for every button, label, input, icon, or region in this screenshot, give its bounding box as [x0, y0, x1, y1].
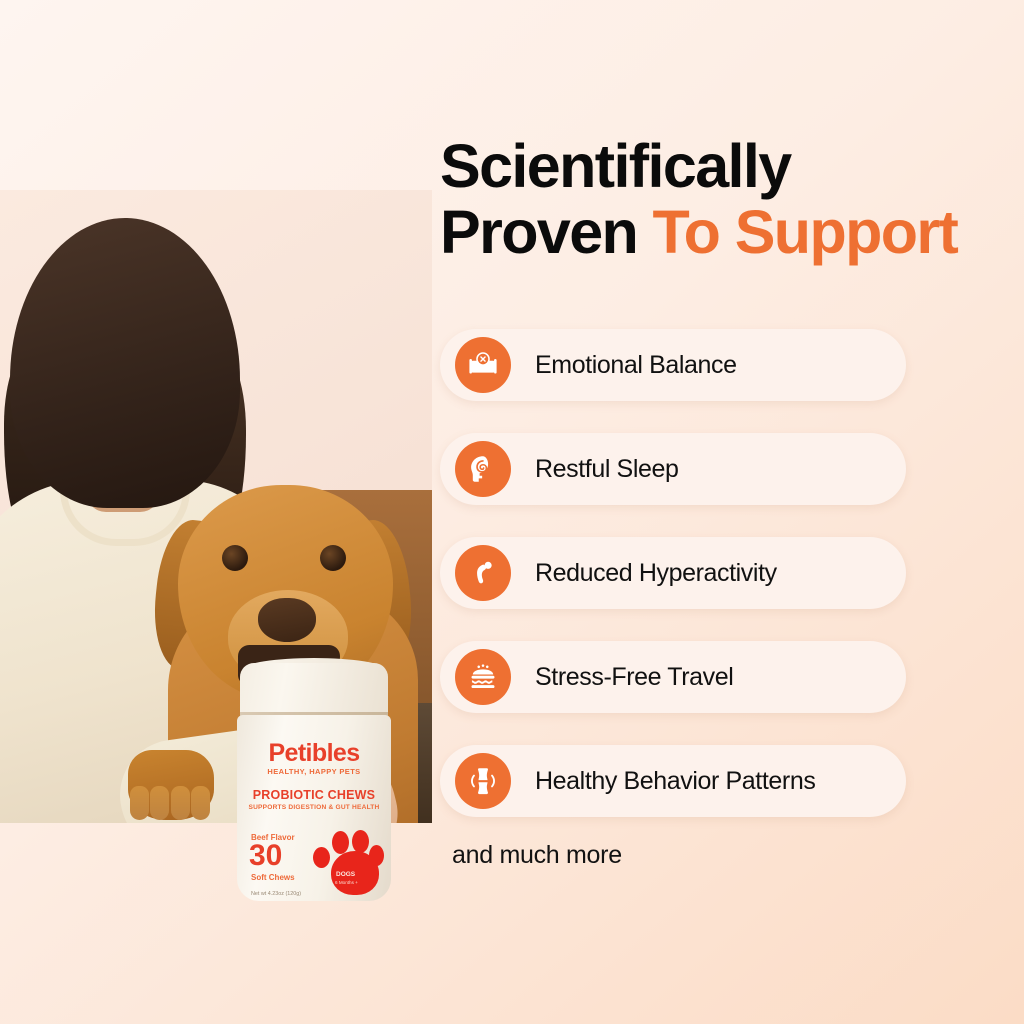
paw-age-label: 6 Months + [335, 880, 358, 885]
pillow-x-icon [455, 337, 511, 393]
headline-line2-accent: To Support [653, 198, 958, 266]
dog-eye-left [222, 545, 248, 571]
feature-list: Emotional Balance Restful Sleep Reduced … [440, 329, 906, 849]
product-bottle: Petibles HEALTHY, HAPPY PETS PROBIOTIC C… [237, 663, 391, 901]
layered-sandwich-icon [455, 649, 511, 705]
headline-line1: Scientifically [440, 132, 791, 200]
dog-paw [128, 750, 214, 820]
paw-toe-3 [171, 786, 190, 820]
bottle-net-weight: Net wt 4.23oz (120g) [251, 891, 301, 897]
paw-pad-3 [352, 830, 369, 853]
feature-label: Stress-Free Travel [535, 663, 733, 692]
bottle-brand-name: Petibles [237, 739, 391, 768]
and-much-more-text: and much more [452, 841, 622, 870]
bottle-count: 30 [249, 841, 282, 871]
dog-eye-right [320, 545, 346, 571]
feature-label: Emotional Balance [535, 351, 737, 380]
paw-print-icon: DOGS 6 Months + [309, 827, 383, 897]
paw-pad-2 [332, 831, 349, 854]
paw-toe-2 [150, 786, 169, 820]
feature-card-reduced-hyperactivity[interactable]: Reduced Hyperactivity [440, 537, 906, 609]
paw-toe-4 [191, 786, 210, 820]
paw-pad-4 [369, 845, 384, 866]
headline-line2-black: Proven [440, 198, 653, 266]
bottle-subtitle: SUPPORTS DIGESTION & GUT HEALTH [237, 804, 391, 811]
page-headline: Scientifically Proven To Support [440, 134, 1000, 266]
bottle-lid [240, 663, 388, 719]
paw-toe-1 [130, 786, 149, 820]
bowed-figure-icon [455, 545, 511, 601]
bottle-count-unit: Soft Chews [251, 873, 295, 882]
feature-label: Reduced Hyperactivity [535, 559, 777, 588]
paw-species-label: DOGS [336, 871, 355, 878]
head-spiral-icon [455, 441, 511, 497]
bottle-tagline: HEALTHY, HAPPY PETS [237, 767, 391, 776]
feature-card-emotional-balance[interactable]: Emotional Balance [440, 329, 906, 401]
feature-label: Restful Sleep [535, 455, 679, 484]
bottle-body: Petibles HEALTHY, HAPPY PETS PROBIOTIC C… [237, 715, 391, 901]
paw-pad-1 [313, 847, 330, 868]
joint-mobility-icon [455, 753, 511, 809]
feature-card-healthy-behavior-patterns[interactable]: Healthy Behavior Patterns [440, 745, 906, 817]
feature-card-restful-sleep[interactable]: Restful Sleep [440, 433, 906, 505]
feature-card-stress-free-travel[interactable]: Stress-Free Travel [440, 641, 906, 713]
bottle-product-name: PROBIOTIC CHEWS [237, 788, 391, 802]
feature-label: Healthy Behavior Patterns [535, 767, 815, 796]
dog-nose [258, 598, 316, 642]
